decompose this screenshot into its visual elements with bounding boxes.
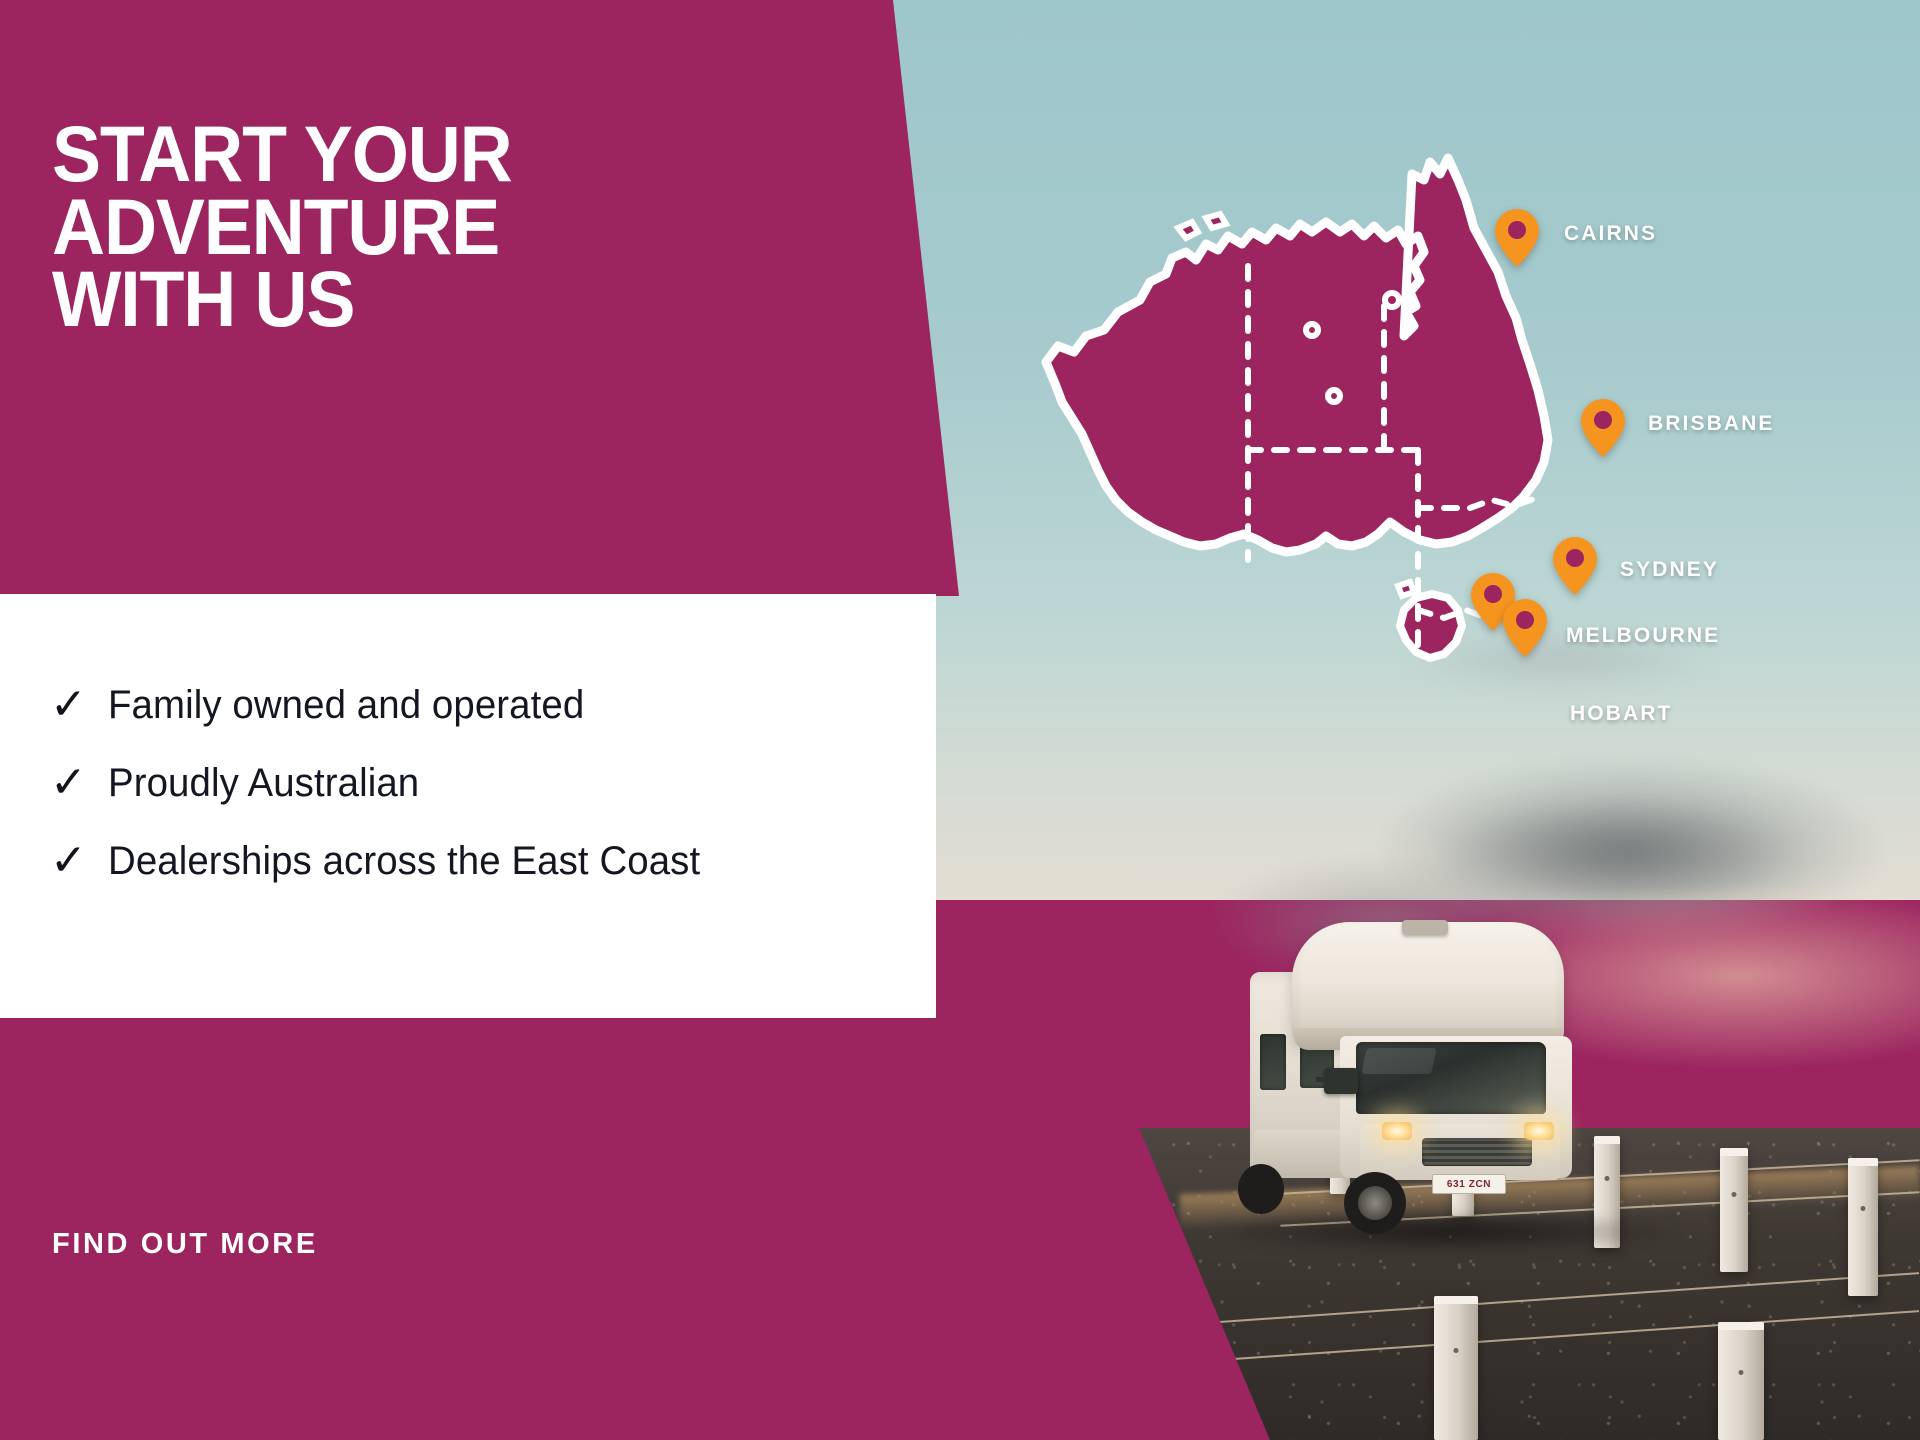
map-pin-sydney[interactable]	[1552, 536, 1598, 596]
advertisement-banner: 631 ZCN	[0, 0, 1920, 1440]
front-rim	[1358, 1186, 1392, 1220]
headlight	[1382, 1122, 1412, 1140]
check-icon: ✓	[50, 683, 108, 727]
post-bolt	[1861, 1206, 1866, 1211]
rear-wheel	[1238, 1164, 1284, 1214]
motorhome: 631 ZCN	[1232, 886, 1656, 1238]
map-pin-label-sydney: SYDNEY	[1620, 558, 1719, 582]
island-speck	[1328, 390, 1340, 402]
list-item: ✓ Proudly Australian	[50, 744, 920, 822]
windscreen	[1356, 1042, 1546, 1114]
island-speck	[1306, 324, 1318, 336]
tasmania-shape	[1400, 594, 1462, 658]
post-cap	[1434, 1296, 1478, 1304]
headline-line-2: ADVENTURE	[52, 191, 629, 264]
licence-plate-text: 631 ZCN	[1447, 1179, 1491, 1190]
headline-line-1: START YOUR	[52, 118, 629, 191]
island-speck	[1178, 222, 1198, 238]
post-bolt	[1732, 1192, 1737, 1197]
post-cap	[1718, 1322, 1764, 1330]
island-speck	[1206, 214, 1226, 228]
page-title: START YOUR ADVENTURE WITH US	[52, 118, 629, 336]
post-bolt	[1739, 1370, 1744, 1375]
motorhome-window	[1260, 1034, 1286, 1090]
motorhome-overcab-pod	[1292, 922, 1564, 1042]
fence-post	[1720, 1148, 1748, 1272]
island-speck	[1385, 293, 1399, 307]
fence-post	[1718, 1322, 1764, 1440]
map-pin-label-brisbane: BRISBANE	[1648, 412, 1774, 436]
post-bolt	[1454, 1348, 1459, 1353]
feature-list: ✓ Family owned and operated ✓ Proudly Au…	[50, 666, 920, 900]
map-pin-label-hobart: HOBART	[1570, 702, 1672, 726]
find-out-more-button[interactable]: FIND OUT MORE	[52, 1228, 318, 1261]
list-item-label: Family owned and operated	[108, 683, 584, 728]
map-pin-brisbane[interactable]	[1580, 398, 1626, 458]
front-grille	[1422, 1138, 1532, 1166]
headlight	[1524, 1122, 1554, 1140]
map-pin-cairns[interactable]	[1494, 208, 1540, 268]
post-cap	[1720, 1148, 1748, 1156]
map-pin-icon	[1552, 536, 1598, 596]
check-icon: ✓	[50, 839, 108, 883]
fence-post	[1434, 1296, 1478, 1440]
fence-post	[1848, 1158, 1878, 1296]
map-pin-label-melbourne: MELBOURNE	[1566, 624, 1720, 648]
post-cap	[1848, 1158, 1878, 1166]
map-pin-icon	[1502, 598, 1548, 658]
headline-line-3: WITH US	[52, 263, 629, 336]
map-pin-label-cairns: CAIRNS	[1564, 222, 1657, 246]
map-pin-icon	[1580, 398, 1626, 458]
list-item-label: Proudly Australian	[108, 761, 419, 806]
check-icon: ✓	[50, 761, 108, 805]
list-item: ✓ Dealerships across the East Coast	[50, 822, 920, 900]
australia-map: CAIRNS BRISBANE SYDNEY MELBOURNE	[1000, 140, 1620, 700]
roof-hatch	[1402, 920, 1448, 935]
licence-plate: 631 ZCN	[1432, 1174, 1506, 1194]
mainland-shape	[1046, 158, 1548, 552]
wing-mirror	[1324, 1068, 1358, 1094]
island-speck	[1398, 582, 1414, 596]
list-item: ✓ Family owned and operated	[50, 666, 920, 744]
map-pin-icon	[1494, 208, 1540, 268]
list-item-label: Dealerships across the East Coast	[108, 839, 700, 884]
map-pin-hobart[interactable]	[1502, 598, 1548, 658]
